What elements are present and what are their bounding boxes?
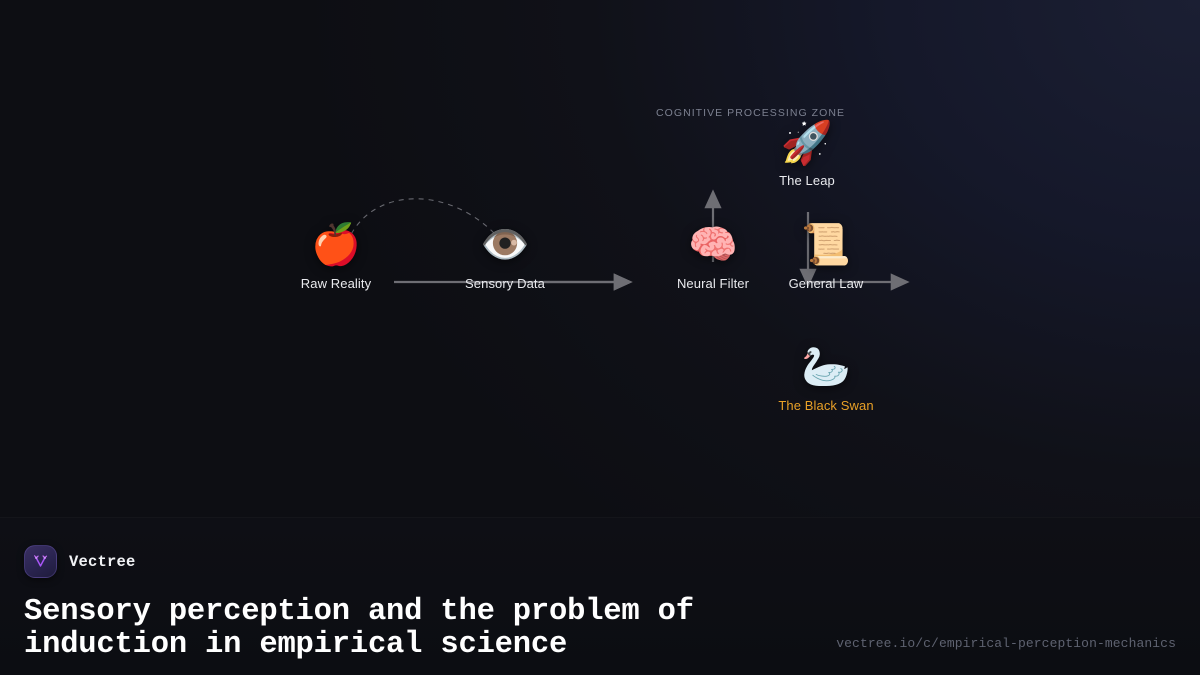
node-label-raw-reality: Raw Reality [301, 276, 371, 291]
rocket-icon: 🚀 [781, 122, 833, 164]
brain-icon: 🧠 [688, 225, 738, 265]
node-label-black-swan: The Black Swan [778, 398, 873, 413]
eye-icon: 👁️ [480, 225, 530, 265]
scroll-icon: 📜 [801, 225, 851, 265]
apple-icon: 🍎 [311, 225, 361, 265]
node-raw-reality[interactable]: 🍎 Raw Reality [301, 225, 371, 291]
node-neural-filter[interactable]: 🧠 Neural Filter [677, 225, 749, 291]
footer-bar: Vectree Sensory perception and the probl… [0, 517, 1200, 675]
connector-layer [0, 0, 1200, 517]
vectree-logo-icon [24, 545, 57, 578]
diagram-area: COGNITIVE PROCESSING ZONE 🍎 Raw Reality … [0, 0, 1200, 517]
slide-canvas: COGNITIVE PROCESSING ZONE 🍎 Raw Reality … [0, 0, 1200, 675]
page-title: Sensory perception and the problem of in… [24, 596, 814, 662]
node-the-leap[interactable]: 🚀 The Leap [779, 122, 835, 188]
node-label-general-law: General Law [789, 276, 864, 291]
node-black-swan[interactable]: 🦢 The Black Swan [778, 347, 873, 413]
brand-row[interactable]: Vectree [24, 545, 136, 578]
cognitive-zone-label: COGNITIVE PROCESSING ZONE [656, 107, 845, 119]
node-general-law[interactable]: 📜 General Law [789, 225, 864, 291]
node-label-the-leap: The Leap [779, 173, 835, 188]
swan-icon: 🦢 [801, 347, 851, 387]
node-label-neural-filter: Neural Filter [677, 276, 749, 291]
node-label-sensory-data: Sensory Data [465, 276, 545, 291]
node-sensory-data[interactable]: 👁️ Sensory Data [465, 225, 545, 291]
source-url: vectree.io/c/empirical-perception-mechan… [836, 636, 1176, 651]
brand-name: Vectree [69, 553, 136, 571]
vectree-glyph [31, 552, 50, 571]
